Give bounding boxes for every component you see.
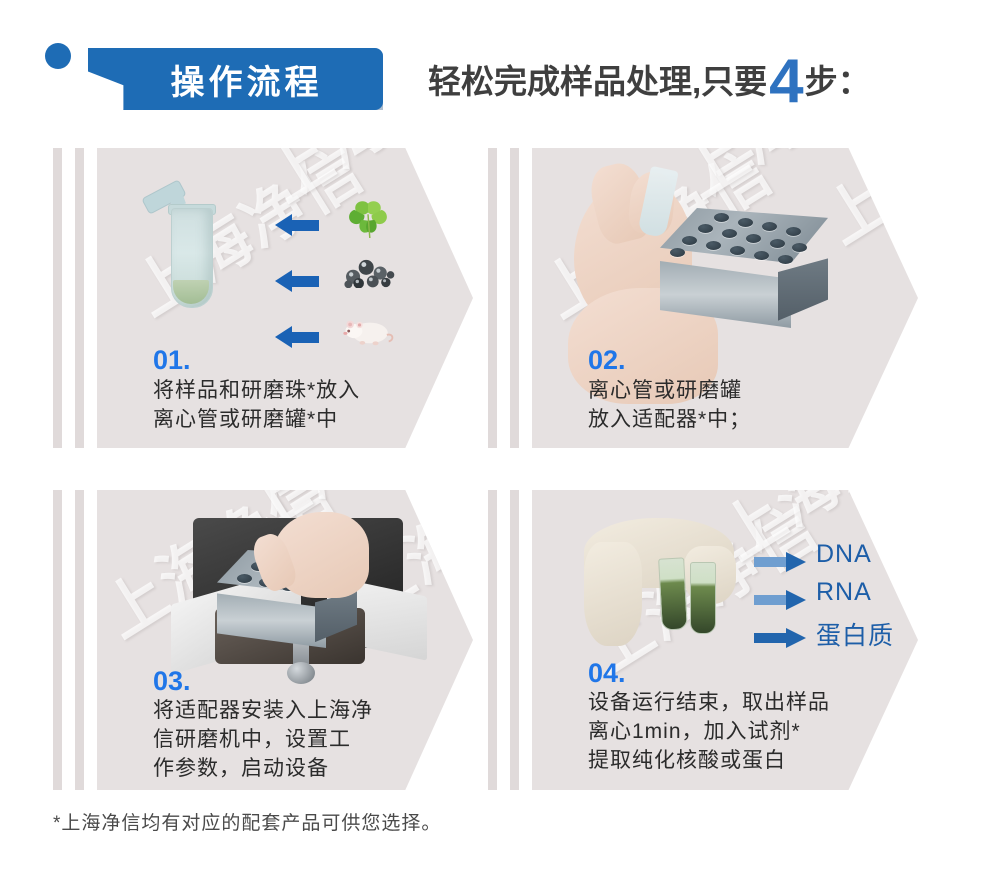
card-accent-bar-outer: [53, 490, 62, 790]
output-label-rna: RNA: [816, 578, 872, 607]
step-text-01: 将样品和研磨珠*放入 离心管或研磨罐*中: [153, 376, 453, 434]
step-card-04[interactable]: 上海净信 上海净信 DNA RNA: [488, 490, 918, 790]
card-accent-bar-inner: [75, 148, 84, 448]
output-label-protein: 蛋白质: [816, 616, 894, 652]
step-text-03: 将适配器安装入上海净 信研磨机中，设置工 作参数，启动设备: [153, 696, 465, 783]
step-card-body-04: 上海净信 上海净信 DNA RNA: [532, 490, 918, 790]
input-arrow-2-icon: [275, 270, 319, 292]
grinding-beads-icon: [343, 258, 395, 288]
card-accent-bar-outer: [488, 148, 497, 448]
steps-grid: 上海净信 上海净信: [0, 0, 1000, 875]
step-number-03: 03.: [153, 666, 191, 697]
adapter-block-image: [660, 208, 828, 328]
step-card-02[interactable]: 上海净信 上海净信 上海净信: [488, 148, 918, 448]
card-accent-bar-outer: [488, 490, 497, 790]
step-number-02: 02.: [588, 345, 626, 376]
step-text-04: 设备运行结束，取出样品 离心1min，加入试剂* 提取纯化核酸或蛋白: [588, 688, 908, 775]
output-arrow-protein-icon: [754, 628, 806, 648]
plant-leaf-icon: [345, 198, 391, 238]
page-root: 操作流程 轻松完成样品处理,只要4步： 上海净信 上海净信: [0, 0, 1000, 875]
step-card-body-02: 上海净信 上海净信 上海净信: [532, 148, 918, 448]
step-card-01[interactable]: 上海净信 上海净信: [53, 148, 473, 448]
step-card-body-03: 上海净信 上海净信 上海净信: [97, 490, 473, 790]
output-arrow-dna-icon: [754, 552, 806, 572]
output-arrow-rna-icon: [754, 590, 806, 610]
step-text-02: 离心管或研磨罐 放入适配器*中；: [588, 376, 888, 434]
lab-mouse-icon: [341, 316, 395, 348]
footnote-text: *上海净信均有对应的配套产品可供您选择。: [53, 808, 441, 835]
step-number-04: 04.: [588, 658, 626, 689]
step-card-03[interactable]: 上海净信 上海净信 上海净信: [53, 490, 473, 790]
card-accent-bar-inner: [75, 490, 84, 790]
input-arrow-3-icon: [275, 326, 319, 348]
card-accent-bar-outer: [53, 148, 62, 448]
card-accent-bar-inner: [510, 148, 519, 448]
step-card-body-01: 上海净信 上海净信: [97, 148, 473, 448]
centrifuge-tube-image: [157, 188, 237, 318]
card-accent-bar-inner: [510, 490, 519, 790]
input-arrow-1-icon: [275, 214, 319, 236]
step-number-01: 01.: [153, 345, 191, 376]
output-label-dna: DNA: [816, 540, 872, 569]
